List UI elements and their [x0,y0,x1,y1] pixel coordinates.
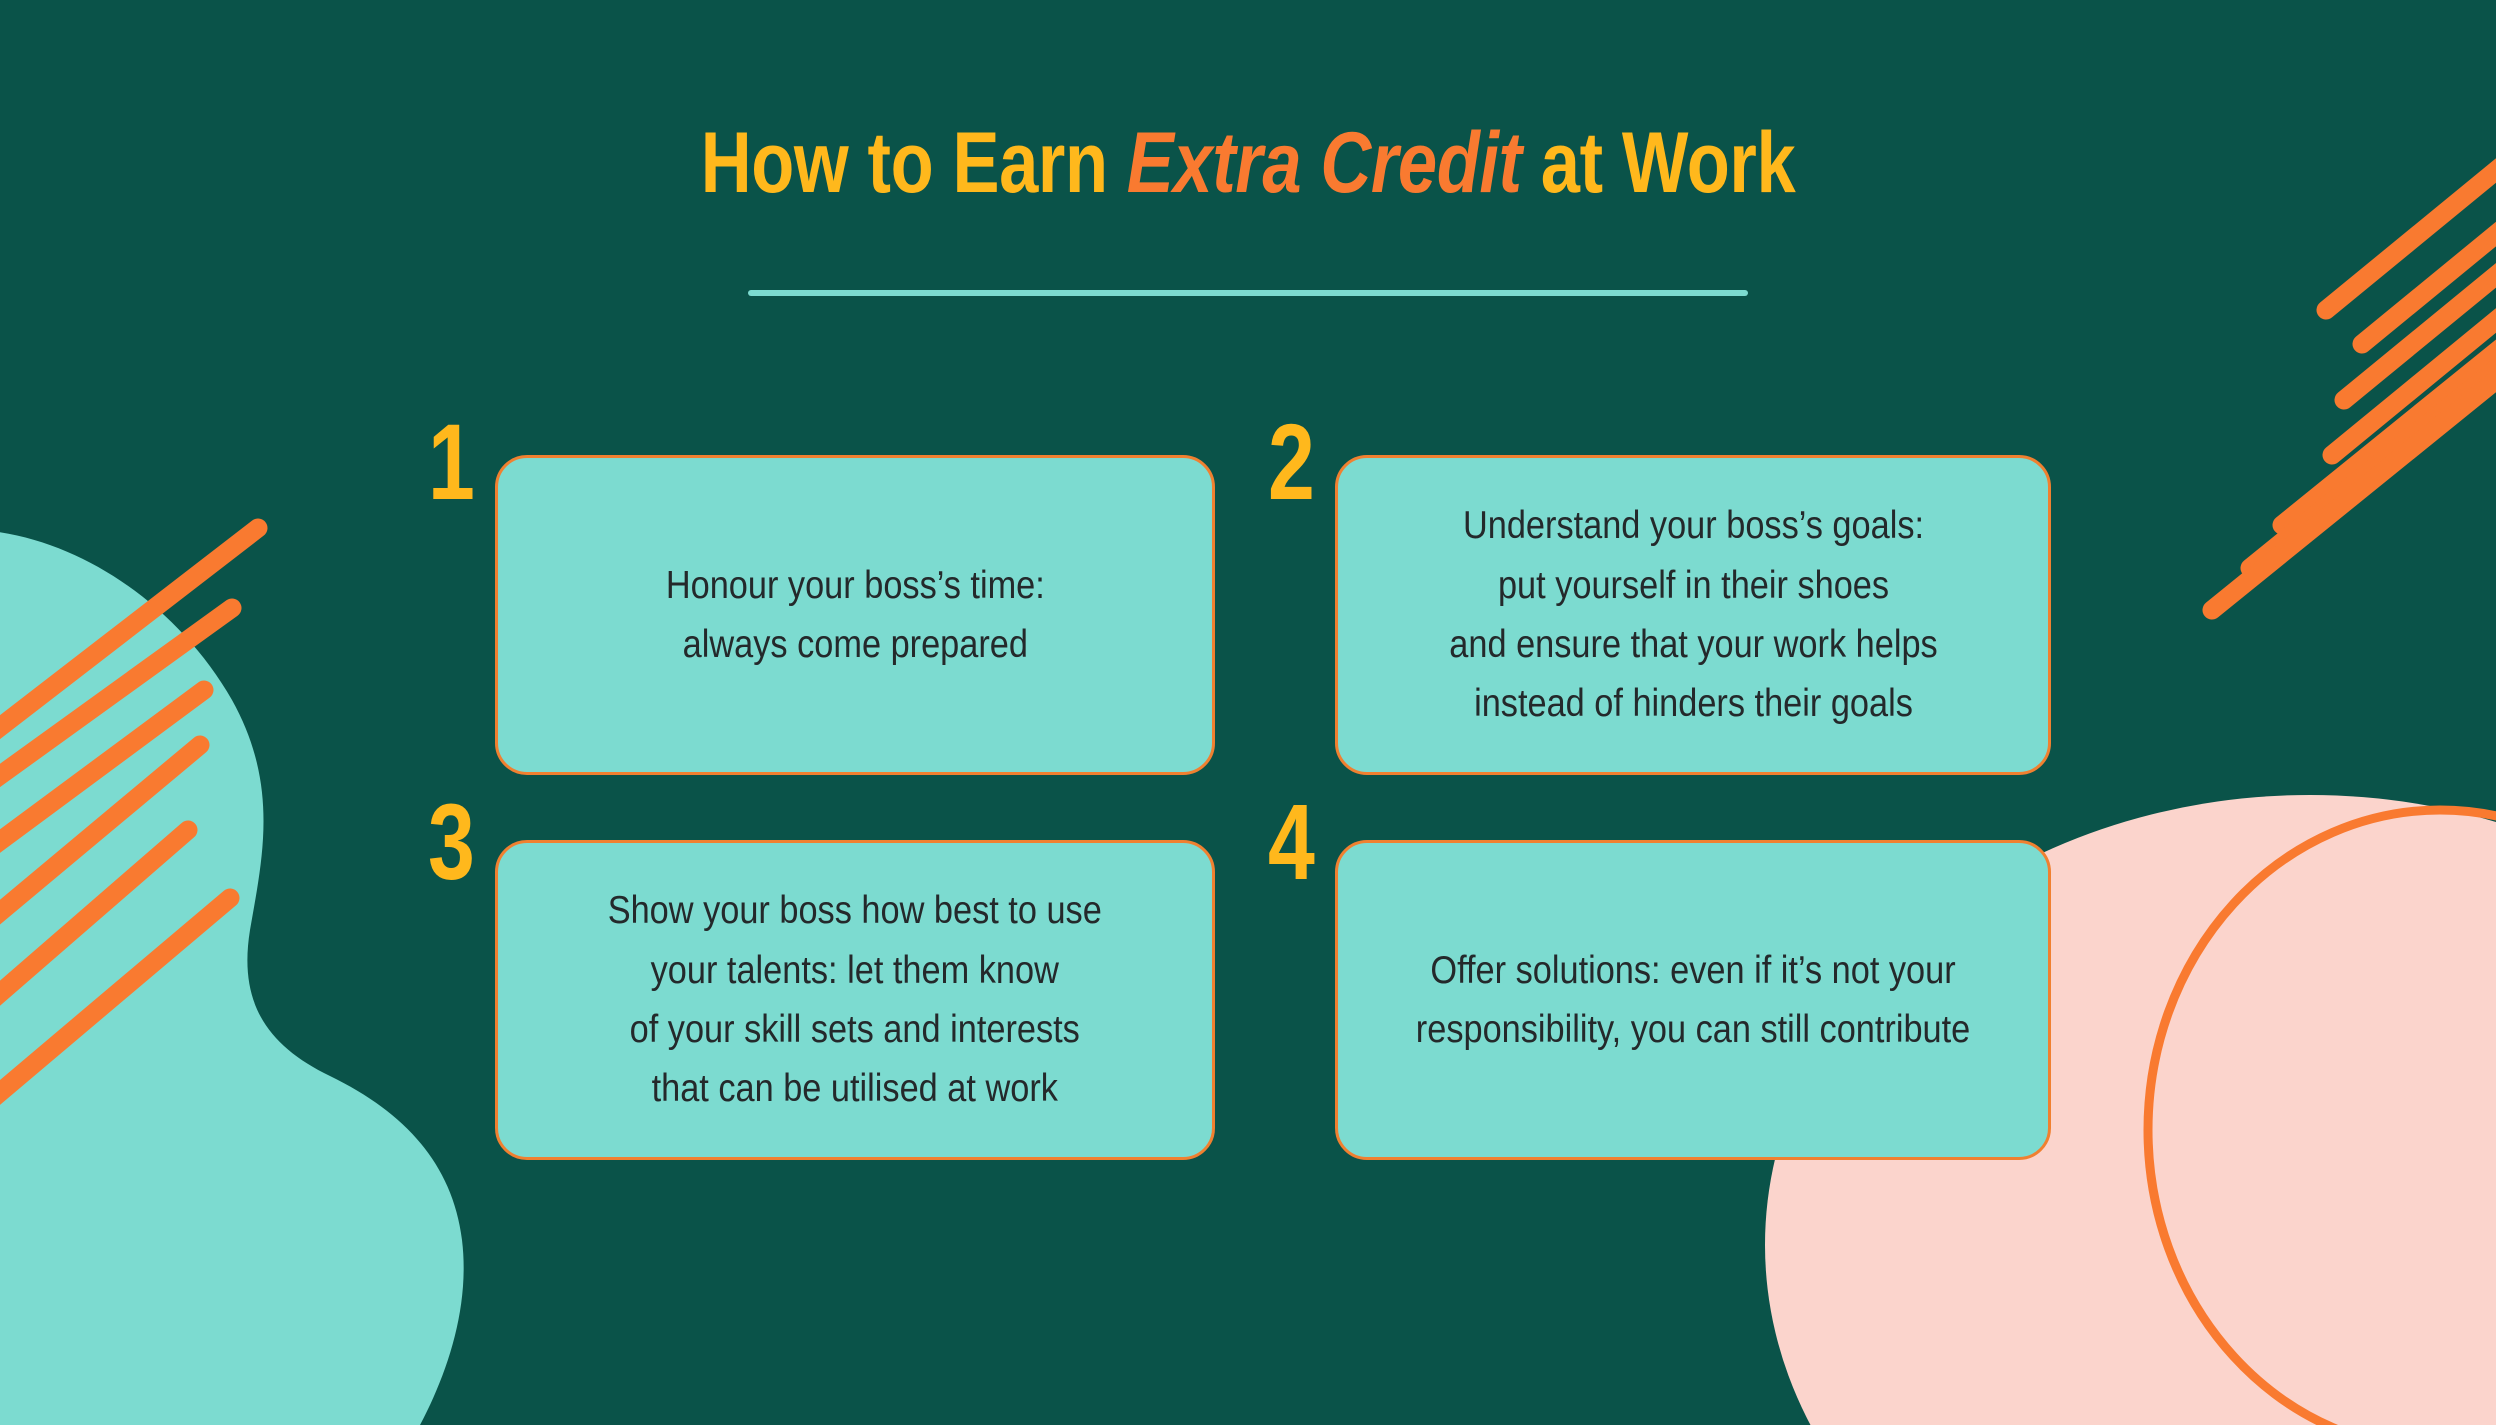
card-box-2[interactable]: Understand your boss’s goals: put yourse… [1335,455,2051,775]
card-item-4: 4 Offer solutions: even if it’s not your… [1268,788,2068,1168]
title-lead: How to Earn [701,115,1127,211]
page-title: How to Earn Extra Credit at Work [225,118,2272,208]
title-block: How to Earn Extra Credit at Work [0,118,2496,208]
title-trail: at Work [1522,115,1796,211]
card-number-1: 1 [428,408,475,516]
card-box-1[interactable]: Honour your boss’s time: always come pre… [495,455,1215,775]
card-number-2: 2 [1268,408,1315,516]
card-text-1: Honour your boss’s time: always come pre… [643,556,1068,675]
card-item-2: 2 Understand your boss’s goals: put your… [1268,408,2068,778]
card-number-4: 4 [1268,788,1315,896]
slide-content: How to Earn Extra Credit at Work 1 Honou… [0,0,2496,1425]
card-item-1: 1 Honour your boss’s time: always come p… [428,408,1228,778]
card-text-2: Understand your boss’s goals: put yourse… [1426,496,1960,733]
card-box-3[interactable]: Show your boss how best to use your tale… [495,840,1215,1160]
title-accent: Extra Credit [1127,115,1522,211]
slide-canvas: How to Earn Extra Credit at Work 1 Honou… [0,0,2496,1425]
title-divider [748,290,1748,296]
card-item-3: 3 Show your boss how best to use your ta… [428,788,1228,1168]
card-box-4[interactable]: Offer solutions: even if it’s not your r… [1335,840,2051,1160]
card-text-3: Show your boss how best to use your tale… [585,881,1125,1118]
card-text-4: Offer solutions: even if it’s not your r… [1393,941,1993,1060]
card-number-3: 3 [428,788,475,896]
